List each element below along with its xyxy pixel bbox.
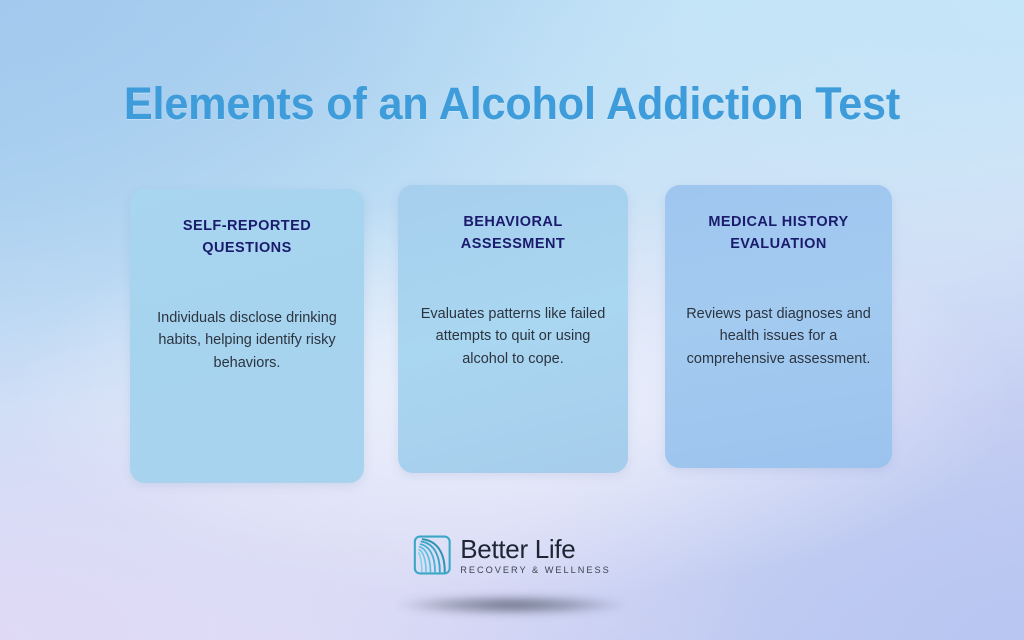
- logo-text-block: Better Life RECOVERY & WELLNESS: [460, 535, 611, 575]
- card-medical-history-evaluation: MEDICAL HISTORY EVALUATION Reviews past …: [665, 185, 892, 468]
- card-behavioral-assessment: BEHAVIORAL ASSESSMENT Evaluates patterns…: [398, 185, 628, 473]
- card-body-text: Reviews past diagnoses and health issues…: [665, 303, 892, 370]
- cards-container: SELF-REPORTED QUESTIONS Individuals disc…: [0, 185, 1024, 485]
- bottom-shadow-ellipse: [362, 592, 662, 618]
- card-body-text: Individuals disclose drinking habits, he…: [130, 307, 364, 374]
- logo-name: Better Life: [460, 535, 611, 563]
- logo-tagline: RECOVERY & WELLNESS: [460, 565, 611, 575]
- better-life-wave-mark-icon: [413, 535, 451, 575]
- card-heading: BEHAVIORAL ASSESSMENT: [398, 212, 628, 256]
- card-self-reported-questions: SELF-REPORTED QUESTIONS Individuals disc…: [130, 189, 364, 483]
- card-body-text: Evaluates patterns like failed attempts …: [398, 303, 628, 370]
- brand-logo: Better Life RECOVERY & WELLNESS: [413, 535, 611, 575]
- card-heading: MEDICAL HISTORY EVALUATION: [665, 212, 892, 256]
- page-title: Elements of an Alcohol Addiction Test: [20, 78, 1003, 130]
- card-heading: SELF-REPORTED QUESTIONS: [130, 216, 364, 260]
